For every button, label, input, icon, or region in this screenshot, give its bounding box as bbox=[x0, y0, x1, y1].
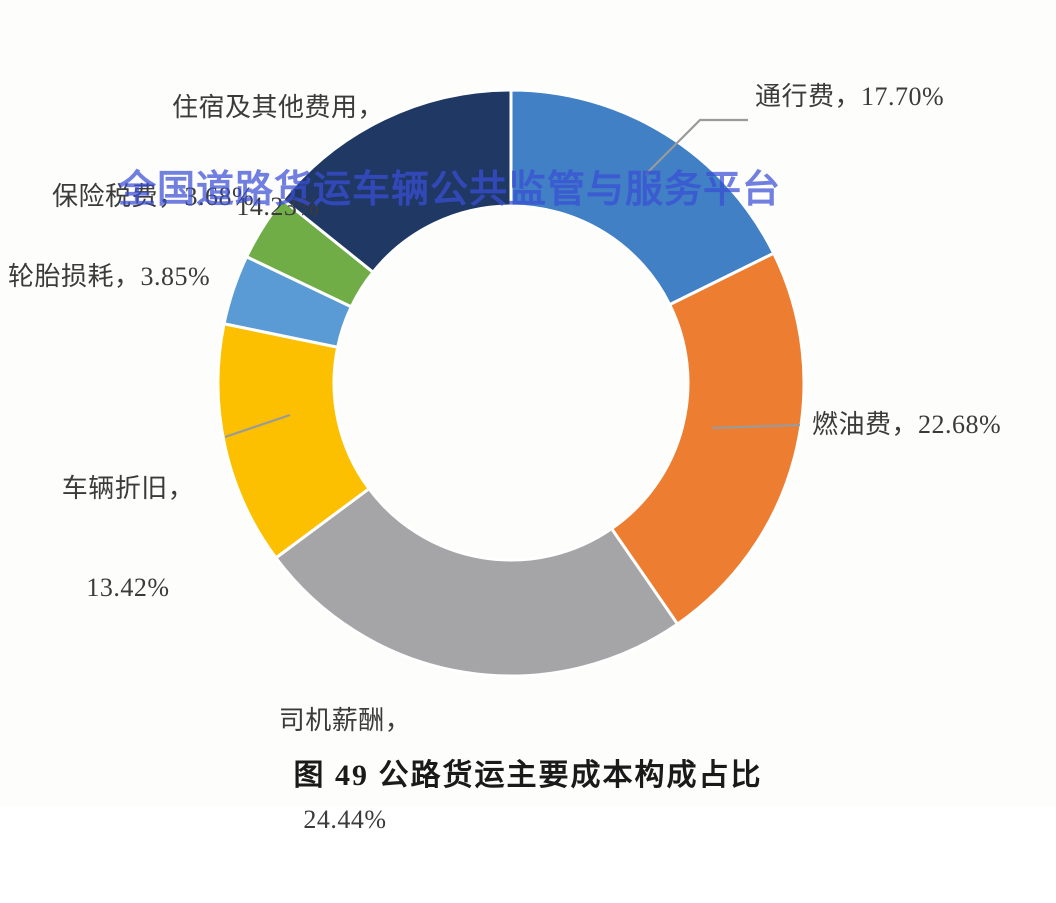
slice-label-depreciation: 车辆折旧， 13.42% bbox=[38, 405, 218, 671]
figure-caption: 图 49 公路货运主要成本构成占比 bbox=[0, 750, 1056, 794]
slice-label-depreciation-name: 车辆折旧， bbox=[38, 472, 218, 505]
slice-label-lodging-name: 住宿及其他费用， bbox=[148, 91, 408, 124]
slice-label-toll: 通行费，17.70% bbox=[755, 80, 944, 113]
slice-label-fuel: 燃油费，22.68% bbox=[812, 408, 1001, 441]
slice-label-driver-value: 24.44% bbox=[250, 803, 440, 836]
figure-root: 住宿及其他费用， 14.23% 通行费，17.70% 燃油费，22.68% 司机… bbox=[0, 0, 1056, 806]
slice-label-depreciation-value: 13.42% bbox=[38, 571, 218, 604]
slice-label-driver-name: 司机薪酬， bbox=[250, 704, 440, 737]
slice-label-lodging: 住宿及其他费用， 14.23% bbox=[148, 24, 408, 290]
slice-label-tire: 轮胎损耗，3.85% bbox=[8, 260, 210, 293]
slice-label-insurance: 保险税费，3.68% bbox=[52, 180, 254, 213]
